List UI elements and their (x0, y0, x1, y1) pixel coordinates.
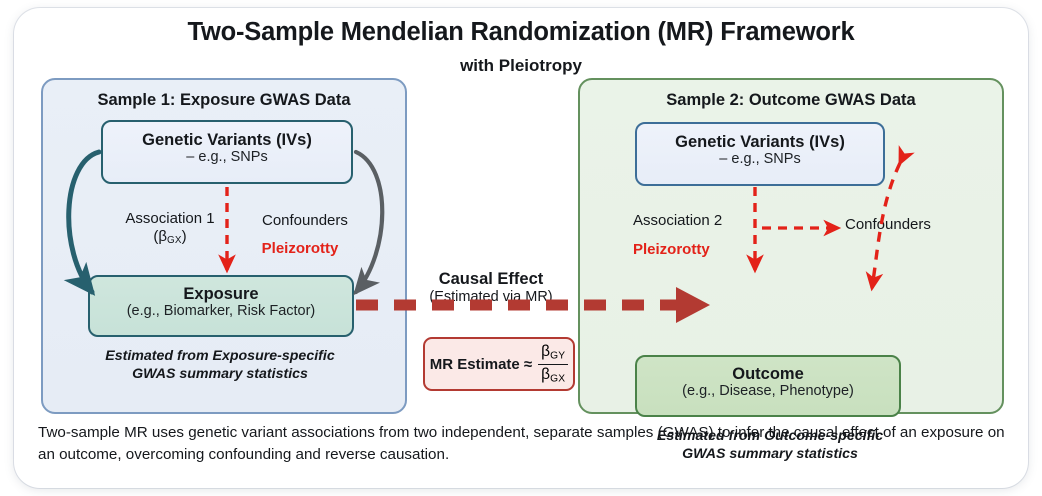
left-pleiotropy-label: Pleizorotty (235, 240, 365, 258)
sample2-panel-title: Sample 2: Outcome GWAS Data (580, 91, 1002, 110)
exposure-estimated-note: Estimated from Exposure-specific GWAS su… (60, 348, 380, 383)
association1-label: Association 1 (105, 210, 235, 228)
left-genetic-variants-sub: – e.g., SNPs (103, 149, 351, 166)
figure-caption: Two-sample MR uses genetic variant assoc… (38, 422, 1006, 466)
association2-label: Association 2 (633, 212, 763, 230)
mr-estimate-box: MR Estimate ≈ βGY βGX (423, 337, 575, 391)
right-genetic-variants-sub: – e.g., SNPs (637, 151, 883, 168)
exposure-estimated-note-line1: Estimated from Exposure-specific (60, 348, 380, 366)
exposure-estimated-note-line2: GWAS summary statistics (60, 366, 380, 384)
right-confounders-label: Confounders (845, 216, 995, 234)
mr-estimate-label: MR Estimate ≈ (430, 356, 532, 373)
right-pleiotropy-label: Pleizorotty (633, 241, 763, 259)
right-genetic-variants-box: Genetic Variants (IVs) – e.g., SNPs (635, 122, 885, 186)
causal-effect-label: Causal Effect (Estimated via MR) (404, 270, 578, 306)
causal-effect-title: Causal Effect (404, 270, 578, 289)
outcome-title: Outcome (637, 365, 899, 383)
exposure-box: Exposure (e.g., Biomarker, Risk Factor) (88, 275, 354, 337)
sample1-panel-title: Sample 1: Exposure GWAS Data (43, 91, 405, 110)
page-title: Two-Sample Mendelian Randomization (MR) … (0, 18, 1042, 47)
right-genetic-variants-title: Genetic Variants (IVs) (637, 133, 883, 151)
mr-estimate-fraction: βGY βGX (538, 344, 568, 384)
mr-fraction-numerator: βGY (538, 344, 568, 363)
mr-fraction-denominator: βGX (538, 364, 568, 384)
caption-line1: Two-sample MR uses genetic variant assoc… (38, 424, 730, 441)
page-subtitle: with Pleiotropy (0, 56, 1042, 76)
association1-label-group: Association 1 (βGX) (105, 210, 235, 247)
exposure-sub: (e.g., Biomarker, Risk Factor) (90, 303, 352, 320)
outcome-box: Outcome (e.g., Disease, Phenotype) (635, 355, 901, 417)
outcome-sub: (e.g., Disease, Phenotype) (637, 383, 899, 400)
left-confounders-label: Confounders (262, 212, 377, 230)
left-genetic-variants-box: Genetic Variants (IVs) – e.g., SNPs (101, 120, 353, 184)
left-genetic-variants-title: Genetic Variants (IVs) (103, 131, 351, 149)
association1-beta: (βGX) (105, 228, 235, 247)
exposure-title: Exposure (90, 285, 352, 303)
causal-effect-sub: (Estimated via MR) (404, 289, 578, 306)
diagram-canvas: Two-Sample Mendelian Randomization (MR) … (0, 0, 1042, 496)
